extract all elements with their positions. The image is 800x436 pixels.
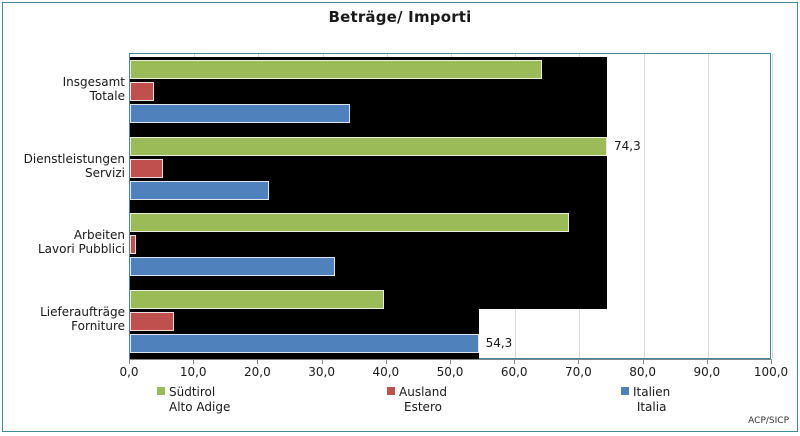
- bar-italien-0[interactable]: [130, 104, 350, 123]
- x-axis-tick-label: 60,0: [501, 365, 528, 379]
- x-axis-tick-label: 80,0: [629, 365, 656, 379]
- x-axis-tick-label: 0,0: [119, 365, 138, 379]
- category-label-line1: Lieferaufträge: [5, 305, 125, 319]
- category-label-line1: Arbeiten: [5, 228, 125, 242]
- bar-sdtirol-1[interactable]: [130, 137, 607, 156]
- bar-sdtirol-2[interactable]: [130, 213, 569, 232]
- x-axis-tick-label: 90,0: [693, 365, 720, 379]
- category-label-line2: Totale: [5, 89, 125, 103]
- bar-ausland-2[interactable]: [130, 235, 136, 254]
- x-axis-tick: [771, 359, 772, 364]
- plot-area: 74,354,3: [129, 53, 771, 359]
- bar-sdtirol-0[interactable]: [130, 60, 542, 79]
- category-label-line1: Insgesamt: [5, 75, 125, 89]
- bar-italien-1[interactable]: [130, 181, 269, 200]
- x-axis-tick-label: 50,0: [437, 365, 464, 379]
- bar-sdtirol-3[interactable]: [130, 290, 384, 309]
- x-axis-tick: [193, 359, 194, 364]
- bar-data-label: 74,3: [614, 139, 641, 153]
- category-label-3: LieferaufträgeForniture: [5, 305, 125, 333]
- x-axis-tick: [707, 359, 708, 364]
- x-axis-tick: [514, 359, 515, 364]
- legend-item-italien[interactable]: ItalienItalia: [621, 385, 670, 415]
- x-axis-tick: [322, 359, 323, 364]
- x-axis-tick-label: 100,0: [754, 365, 788, 379]
- source-note: ACP/SICP: [748, 416, 789, 426]
- x-axis-tick-label: 10,0: [180, 365, 207, 379]
- category-label-line1: Dienstleistungen: [5, 152, 125, 166]
- category-label-0: InsgesamtTotale: [5, 75, 125, 103]
- x-axis-tick: [386, 359, 387, 364]
- bars-layer: [130, 54, 770, 358]
- legend-label-de: Italien: [633, 385, 670, 399]
- bar-data-label: 54,3: [486, 336, 513, 350]
- category-label-line2: Lavori Pubblici: [5, 242, 125, 256]
- category-axis-labels: InsgesamtTotaleDienstleistungenServiziAr…: [3, 53, 125, 359]
- x-axis-tick: [643, 359, 644, 364]
- category-label-line2: Servizi: [5, 166, 125, 180]
- legend-swatch-icon: [157, 387, 165, 395]
- legend-swatch-icon: [621, 387, 629, 395]
- category-label-2: ArbeitenLavori Pubblici: [5, 228, 125, 256]
- x-axis-tick-label: 20,0: [244, 365, 271, 379]
- x-axis-tick-label: 70,0: [565, 365, 592, 379]
- legend-swatch-icon: [387, 387, 395, 395]
- category-label-line2: Forniture: [5, 319, 125, 333]
- legend-label-de: Südtirol: [169, 385, 215, 399]
- legend-item-ausland[interactable]: AuslandEstero: [387, 385, 447, 415]
- x-axis-tick-label: 30,0: [308, 365, 335, 379]
- x-axis-tick: [129, 359, 130, 364]
- x-axis-tick-label: 40,0: [372, 365, 399, 379]
- bar-ausland-0[interactable]: [130, 82, 154, 101]
- chart-title: Beträge/ Importi: [3, 8, 797, 26]
- legend-label-it: Italia: [621, 400, 670, 415]
- gridline: [772, 54, 773, 358]
- x-axis-tick: [578, 359, 579, 364]
- bar-ausland-3[interactable]: [130, 312, 174, 331]
- x-axis-tick: [450, 359, 451, 364]
- chart-container: Beträge/ Importi 74,354,3 InsgesamtTotal…: [2, 2, 798, 432]
- legend-label-it: Estero: [387, 400, 447, 415]
- legend-label-de: Ausland: [399, 385, 447, 399]
- bar-italien-2[interactable]: [130, 257, 335, 276]
- bar-ausland-1[interactable]: [130, 159, 163, 178]
- chart-legend: SüdtirolAlto AdigeAuslandEsteroItalienIt…: [129, 385, 771, 419]
- legend-label-it: Alto Adige: [157, 400, 230, 415]
- category-label-1: DienstleistungenServizi: [5, 152, 125, 180]
- bar-italien-3[interactable]: [130, 334, 479, 353]
- x-axis-tick: [257, 359, 258, 364]
- legend-item-sdtirol[interactable]: SüdtirolAlto Adige: [157, 385, 230, 415]
